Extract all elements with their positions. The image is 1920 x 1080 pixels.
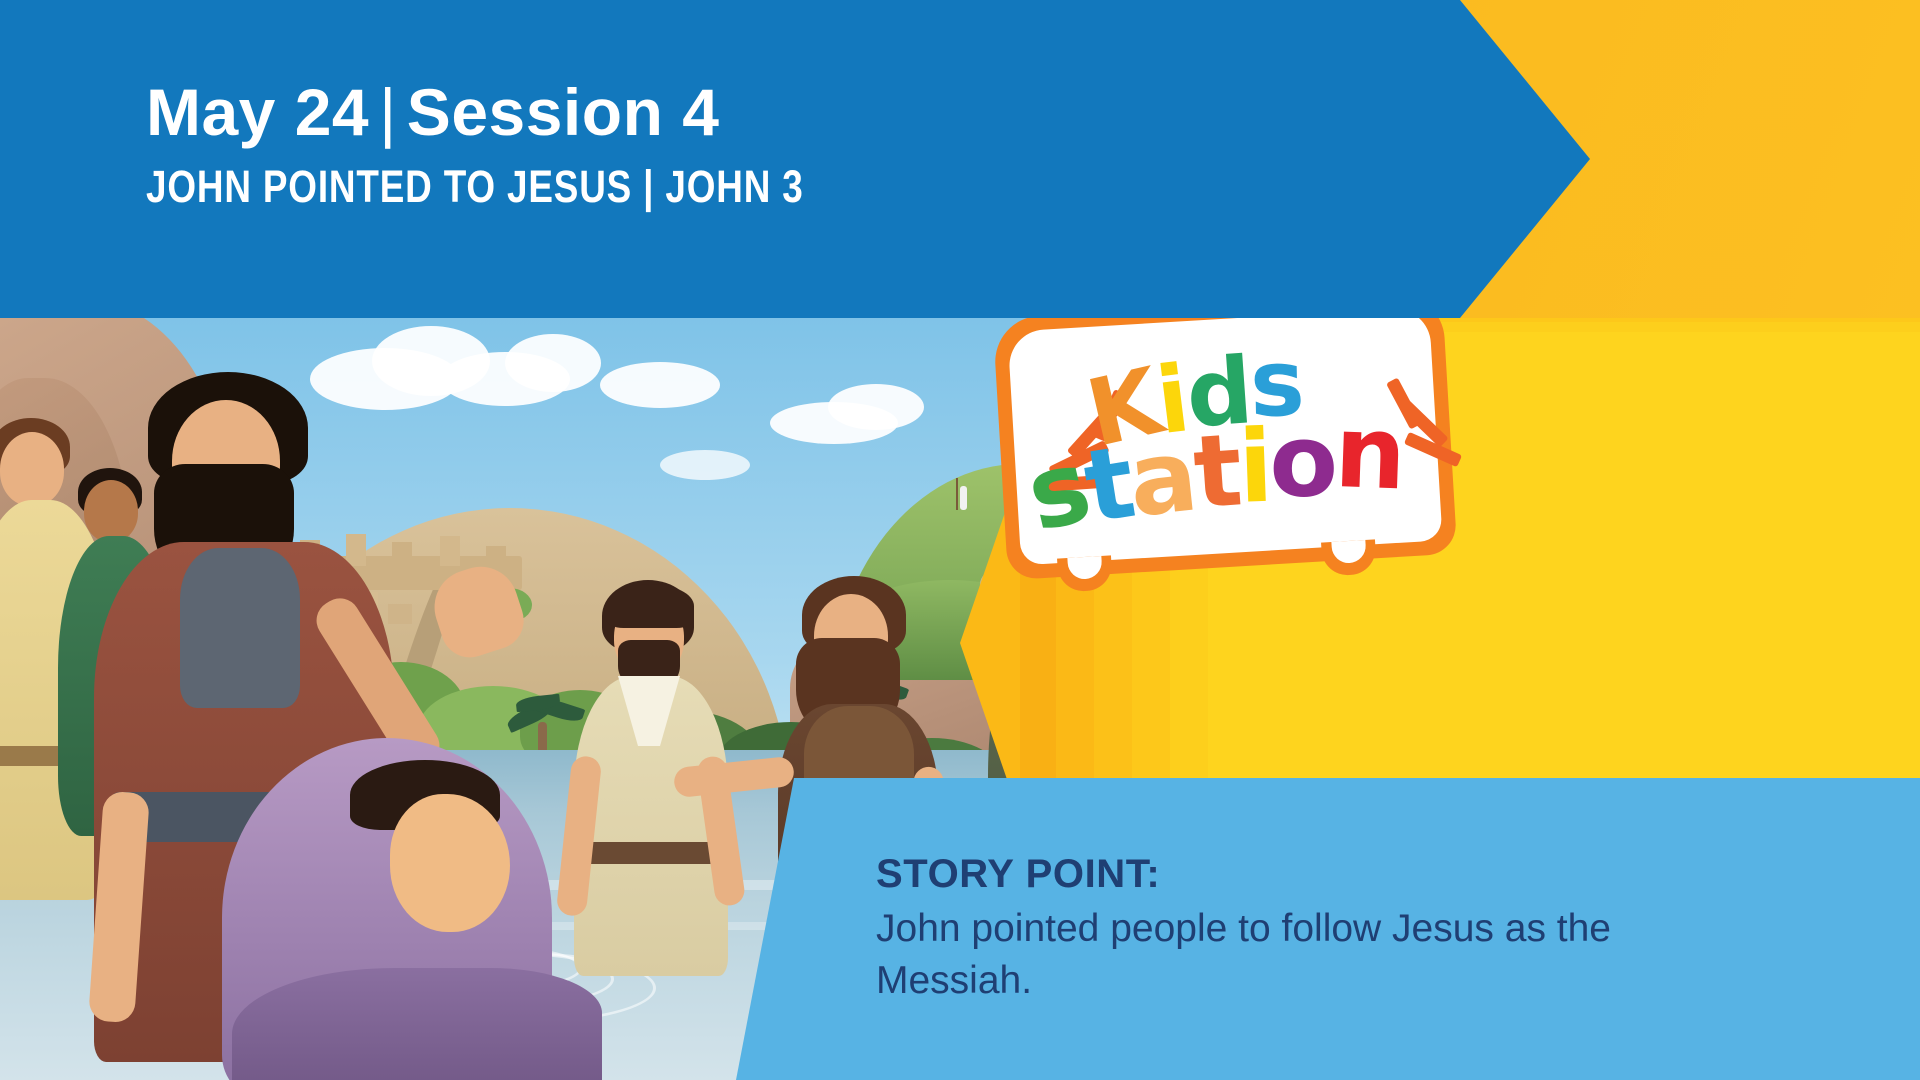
logo-letter: i [1236, 408, 1271, 526]
story-point-content: STORY POINT: John pointed people to foll… [876, 852, 1816, 1008]
logo-letter: t [1190, 412, 1243, 532]
header-text-block: May 24|Session 4 JOHN POINTED TO JESUS |… [146, 78, 948, 213]
figure-woman-purple-veil [222, 738, 622, 1080]
woman-shawl-lower [232, 968, 602, 1080]
kids-station-logo: Kids station [1000, 305, 1470, 595]
title-separator: | [369, 75, 407, 149]
distant-figure-staff [956, 478, 958, 510]
logo-letter: a [1124, 417, 1200, 540]
distant-figure [960, 486, 967, 510]
logo-letter: n [1332, 393, 1404, 512]
cloud [660, 450, 750, 480]
session-number: Session 4 [407, 75, 720, 149]
slide-canvas: Kids station May 24|Session 4 JOHN POINT… [0, 0, 1920, 1080]
woman-face [390, 794, 510, 932]
logo-letter: o [1269, 402, 1335, 519]
story-point-banner: STORY POINT: John pointed people to foll… [736, 778, 1920, 1080]
cloud [600, 362, 720, 408]
session-title-line: May 24|Session 4 [146, 78, 948, 147]
story-point-label: STORY POINT: [876, 852, 1816, 897]
cloud [505, 334, 601, 392]
city-tower [486, 546, 506, 570]
session-subtitle: JOHN POINTED TO JESUS | JOHN 3 [146, 161, 804, 213]
cloud [828, 384, 924, 430]
city-tower [440, 536, 460, 566]
story-point-text: John pointed people to follow Jesus as t… [876, 903, 1756, 1008]
header-banner: May 24|Session 4 JOHN POINTED TO JESUS |… [0, 0, 1590, 318]
session-date: May 24 [146, 75, 369, 149]
